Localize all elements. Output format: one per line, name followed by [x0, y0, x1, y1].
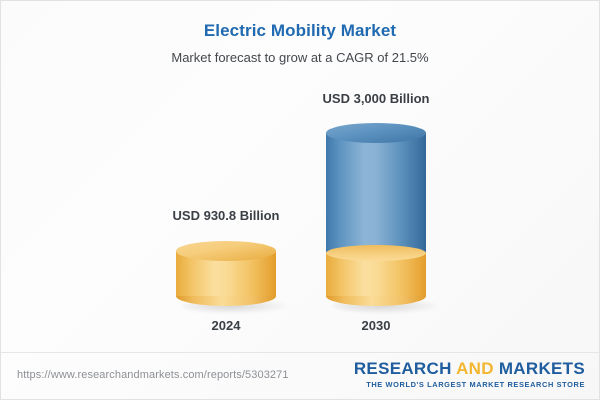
bar-top-cap-2024 [176, 241, 276, 261]
bar-category-label-2030: 2030 [276, 318, 476, 333]
chart-plot-area: USD 930.8 Billion 2024 USD 3,000 Billion [1, 86, 599, 351]
source-url[interactable]: https://www.researchandmarkets.com/repor… [17, 369, 289, 381]
chart-header: Electric Mobility Market Market forecast… [1, 1, 599, 66]
bar-group-2024: USD 930.8 Billion 2024 [176, 86, 276, 351]
chart-subtitle: Market forecast to grow at a CAGR of 21.… [1, 41, 599, 66]
bar-cylinder-2024 [176, 241, 276, 306]
bar-segment-growth-2030 [326, 133, 426, 253]
bar-cylinder-2030 [326, 123, 426, 306]
logo-tagline: THE WORLD'S LARGEST MARKET RESEARCH STOR… [354, 378, 585, 390]
logo-word-markets: MARKETS [499, 359, 585, 378]
bar-segment-divider-2030 [326, 245, 426, 261]
research-and-markets-logo[interactable]: RESEARCH AND MARKETS THE WORLD'S LARGEST… [354, 359, 585, 390]
bar-value-label-2030: USD 3,000 Billion [276, 91, 476, 106]
logo-wordmark: RESEARCH AND MARKETS [354, 359, 585, 378]
chart-image: Electric Mobility Market Market forecast… [0, 0, 600, 400]
chart-footer: https://www.researchandmarkets.com/repor… [1, 353, 599, 399]
bar-value-label-2024: USD 930.8 Billion [126, 208, 326, 223]
bar-top-cap-2030 [326, 123, 426, 143]
page-title: Electric Mobility Market [1, 21, 599, 41]
logo-word-research: RESEARCH [354, 359, 452, 378]
bar-group-2030: USD 3,000 Billion 2030 [326, 86, 426, 351]
logo-word-and: AND [456, 359, 494, 378]
